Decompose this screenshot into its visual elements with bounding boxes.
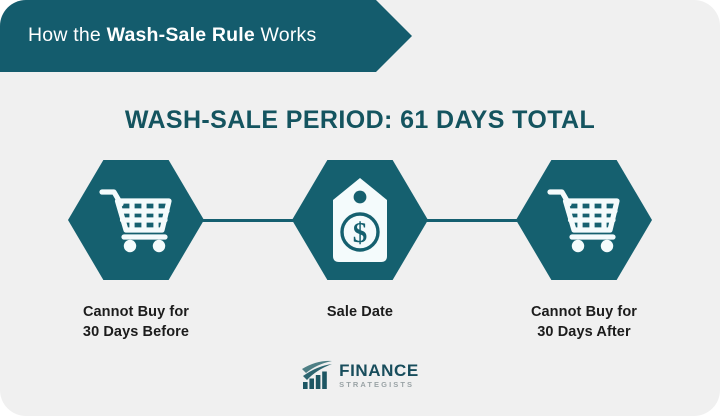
- step-label-before: Cannot Buy for 30 Days Before: [46, 303, 226, 342]
- step-hexagon-before: [68, 160, 204, 280]
- shopping-cart-icon: [99, 187, 173, 253]
- step-label-after-line1: Cannot Buy for: [494, 303, 674, 323]
- shopping-cart-icon: [547, 187, 621, 253]
- step-hexagon-after: [516, 160, 652, 280]
- step-label-before-line2: 30 Days Before: [46, 323, 226, 343]
- header-banner: How the Wash-Sale Rule Works: [0, 0, 412, 72]
- step-label-before-line1: Cannot Buy for: [46, 303, 226, 323]
- logo-primary-text: FINANCE: [339, 362, 419, 379]
- title-emphasis: Wash-Sale Rule: [107, 24, 255, 46]
- price-tag-dollar-icon: $: [329, 177, 391, 263]
- title-prefix: How the: [28, 24, 107, 46]
- svg-text:$: $: [353, 217, 368, 249]
- page-title: How the Wash-Sale Rule Works: [0, 26, 316, 46]
- logo-wordmark: FINANCE STRATEGISTS: [339, 362, 419, 389]
- subtitle: WASH-SALE PERIOD: 61 DAYS TOTAL: [0, 108, 720, 133]
- brand-logo: FINANCE STRATEGISTS: [0, 360, 720, 390]
- title-suffix: Works: [255, 24, 317, 46]
- step-hexagon-sale-date: $: [292, 160, 428, 280]
- step-label-after-line2: 30 Days After: [494, 323, 674, 343]
- step-label-sale-date: Sale Date: [275, 303, 445, 323]
- step-label-after: Cannot Buy for 30 Days After: [494, 303, 674, 342]
- finance-strategists-logo-icon: [301, 360, 333, 390]
- infographic-card: How the Wash-Sale Rule Works WASH-SALE P…: [0, 0, 720, 416]
- logo-secondary-text: STRATEGISTS: [339, 381, 419, 389]
- step-label-sale-date-line1: Sale Date: [275, 303, 445, 323]
